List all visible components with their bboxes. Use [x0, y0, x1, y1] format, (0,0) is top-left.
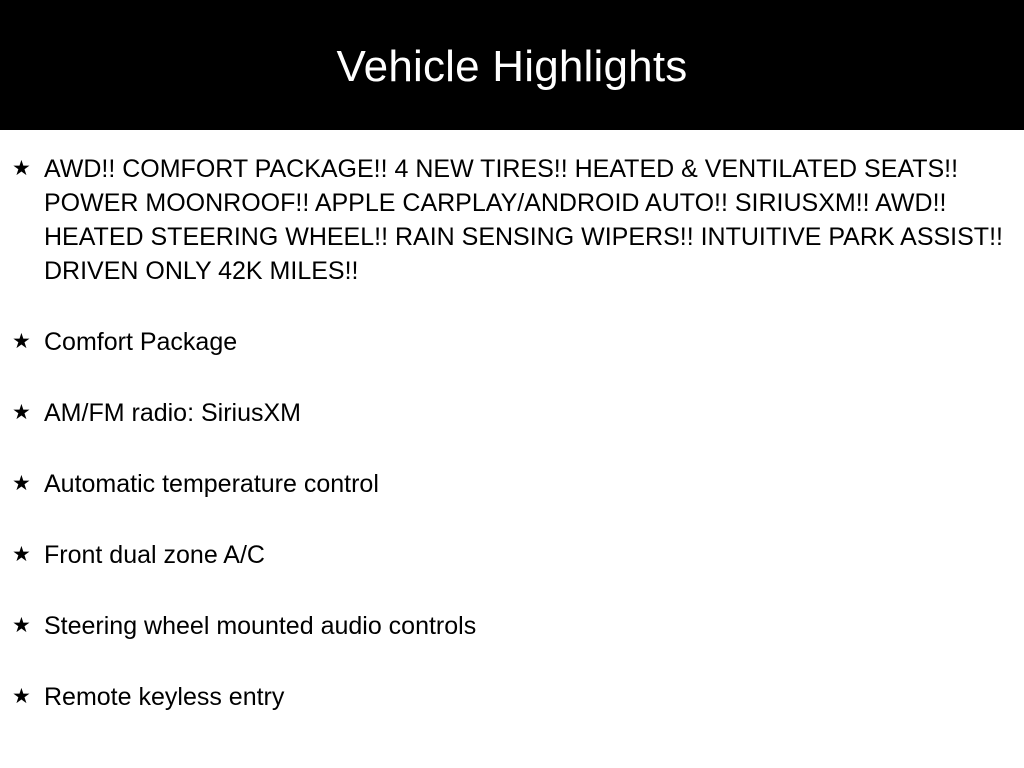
star-bullet-icon: ★ — [12, 538, 34, 572]
vehicle-highlights-page: Vehicle Highlights ★ AWD!! COMFORT PACKA… — [0, 0, 1024, 768]
star-bullet-icon: ★ — [12, 680, 34, 714]
list-item: ★ Steering wheel mounted audio controls — [0, 609, 1024, 643]
list-item: ★ Front dual zone A/C — [0, 538, 1024, 572]
list-item: ★ Remote keyless entry — [0, 680, 1024, 714]
list-item-text: Automatic temperature control — [44, 467, 1004, 501]
page-title: Vehicle Highlights — [337, 45, 688, 89]
header-band: Vehicle Highlights — [0, 0, 1024, 130]
list-item-text: Comfort Package — [44, 325, 1004, 359]
star-bullet-icon: ★ — [12, 152, 34, 186]
star-bullet-icon: ★ — [12, 396, 34, 430]
list-item-text: AWD!! COMFORT PACKAGE!! 4 NEW TIRES!! HE… — [44, 152, 1004, 288]
highlights-list: ★ AWD!! COMFORT PACKAGE!! 4 NEW TIRES!! … — [0, 130, 1024, 714]
list-item: ★ Automatic temperature control — [0, 467, 1024, 501]
list-item: ★ AWD!! COMFORT PACKAGE!! 4 NEW TIRES!! … — [0, 152, 1024, 288]
star-bullet-icon: ★ — [12, 467, 34, 501]
list-item-text: Remote keyless entry — [44, 680, 1004, 714]
list-item-text: AM/FM radio: SiriusXM — [44, 396, 1004, 430]
list-item: ★ Comfort Package — [0, 325, 1024, 359]
list-item-text: Front dual zone A/C — [44, 538, 1004, 572]
star-bullet-icon: ★ — [12, 609, 34, 643]
list-item-text: Steering wheel mounted audio controls — [44, 609, 1004, 643]
star-bullet-icon: ★ — [12, 325, 34, 359]
list-item: ★ AM/FM radio: SiriusXM — [0, 396, 1024, 430]
